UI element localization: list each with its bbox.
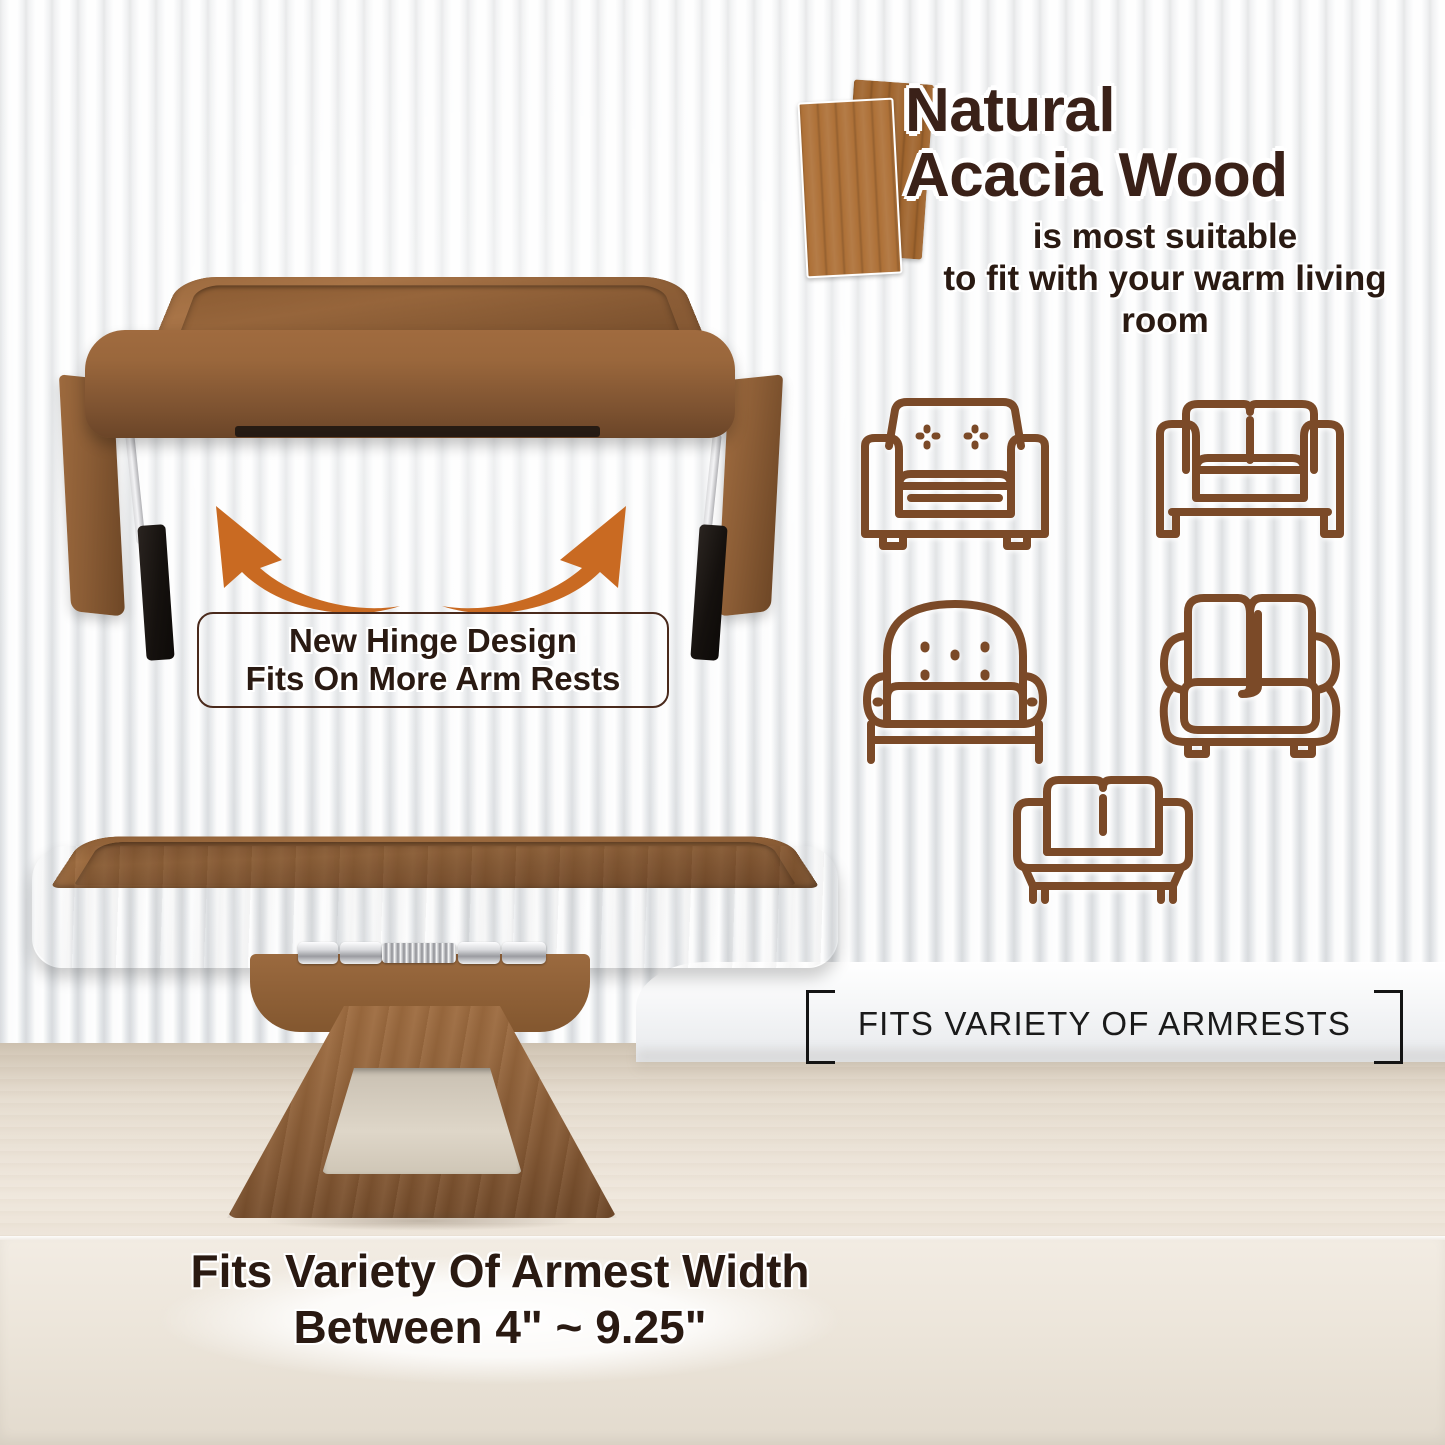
headline-line-4: to fit with your warm living room xyxy=(905,258,1425,342)
wood-plank-front xyxy=(797,98,902,279)
hinge-callout-line-2: Fits On More Arm Rests xyxy=(246,660,621,698)
bottom-caption-line-1: Fits Variety Of Armest Width xyxy=(60,1243,940,1299)
headline-line-1: Natural xyxy=(905,80,1425,142)
hinge-motion-arrows xyxy=(186,496,656,616)
hinge-coil-spring xyxy=(382,943,456,963)
sofa-tufted-two-seat-icon xyxy=(855,394,1055,554)
hinge-callout-line-1: New Hinge Design xyxy=(289,622,577,660)
sofa-rolled-arm-loveseat-icon xyxy=(1150,590,1350,770)
hinge-barrel-3 xyxy=(458,942,500,964)
arrow-right-curved xyxy=(442,506,626,613)
tray-front-edge xyxy=(85,330,735,438)
fits-armrests-label: FITS VARIETY OF ARMRESTS xyxy=(806,988,1403,1060)
arrow-left-curved xyxy=(216,506,400,613)
base-cutout-opening xyxy=(322,1068,522,1174)
headline-line-2: Acacia Wood xyxy=(905,142,1425,210)
hinge-barrel-1 xyxy=(298,942,338,964)
hinge-barrel-4 xyxy=(502,942,546,964)
fits-armrests-band: FITS VARIETY OF ARMRESTS xyxy=(806,988,1403,1060)
sofa-boxy-loveseat-icon xyxy=(1003,770,1203,920)
tray-underside-slot xyxy=(235,426,600,437)
rubber-grip-pad-left xyxy=(137,524,174,661)
bottom-caption-line-2: Between 4" ~ 9.25" xyxy=(60,1299,940,1355)
chrome-spring-hinge xyxy=(298,938,546,968)
bottom-caption: Fits Variety Of Armest Width Between 4" … xyxy=(60,1243,940,1355)
trapezoid-wooden-base xyxy=(227,1006,617,1218)
sofa-icon-grid xyxy=(845,392,1415,932)
product2-floor-shadow xyxy=(212,1208,632,1234)
headline-block: Natural Acacia Wood is most suitable to … xyxy=(905,80,1425,342)
sofa-loveseat-square-arm-icon xyxy=(1150,394,1350,554)
headline-line-3: is most suitable xyxy=(905,216,1425,258)
product-tray-with-hinge-base xyxy=(22,768,852,1240)
hinge-design-callout: New Hinge Design Fits On More Arm Rests xyxy=(197,612,669,708)
hinge-barrel-2 xyxy=(340,942,382,964)
rubber-grip-pad-right xyxy=(690,524,727,661)
product-infographic: New Hinge Design Fits On More Arm Rests xyxy=(0,0,1445,1445)
armchair-button-tufted-icon xyxy=(855,590,1055,770)
